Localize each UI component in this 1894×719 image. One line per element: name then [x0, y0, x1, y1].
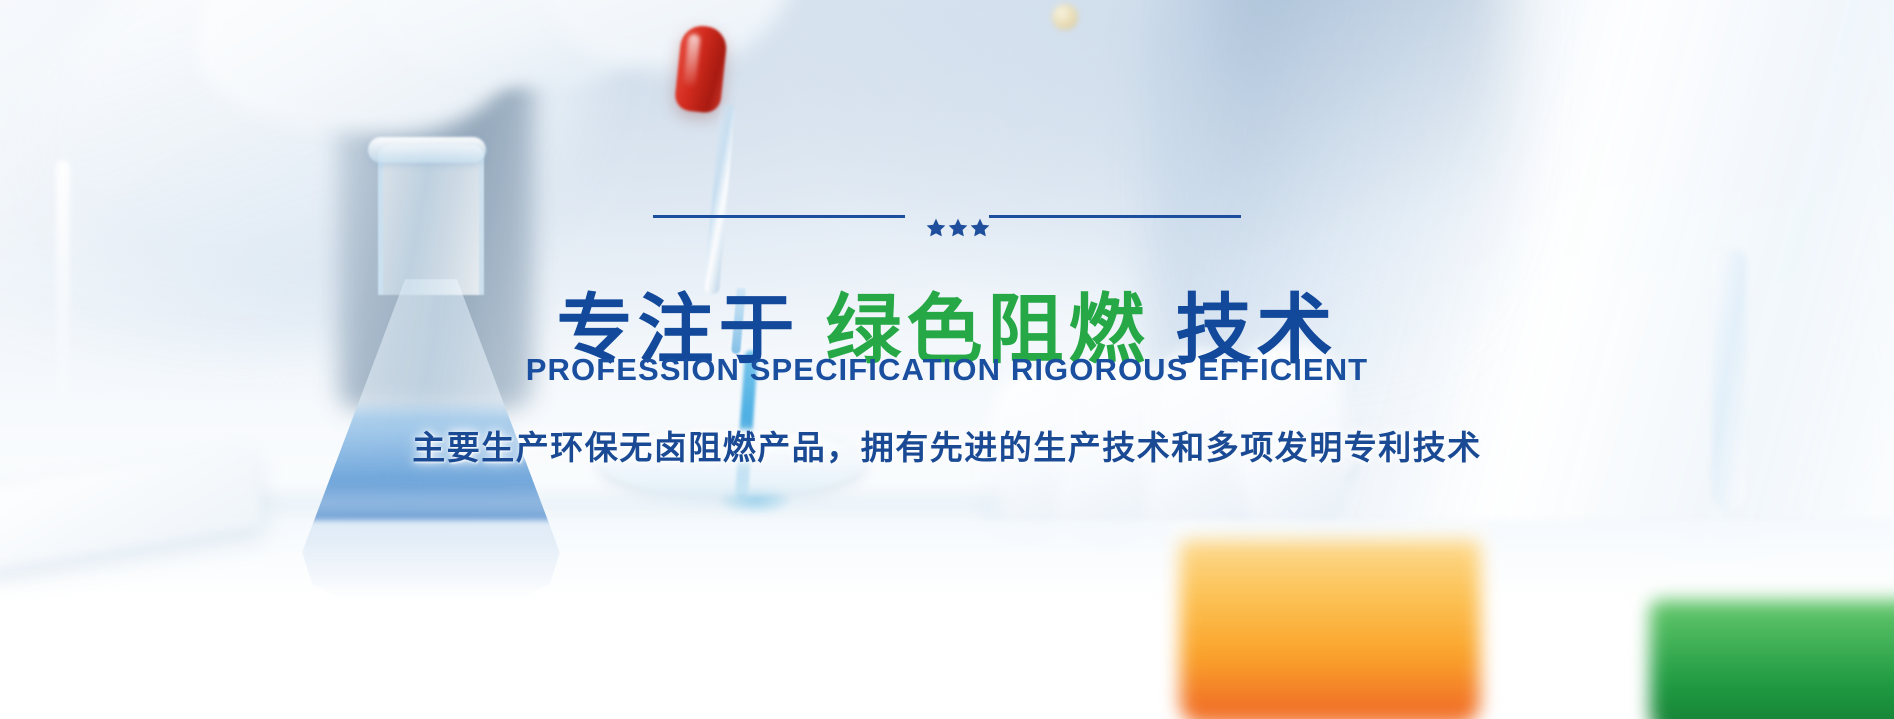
decorative-divider	[0, 215, 1894, 218]
divider-rule-right	[989, 215, 1241, 218]
description-chinese: 主要生产环保无卤阻燃产品，拥有先进的生产技术和多项发明专利技术	[0, 421, 1894, 469]
subtitle-english: PROFESSION SPECIFICATION RIGOROUS EFFICI…	[0, 352, 1894, 388]
hero-banner: 专注于绿色阻燃技术 PROFESSION SPECIFICATION RIGOR…	[0, 0, 1894, 719]
banner-content: 专注于绿色阻燃技术 PROFESSION SPECIFICATION RIGOR…	[0, 0, 1894, 719]
divider-rule-left	[653, 215, 905, 218]
